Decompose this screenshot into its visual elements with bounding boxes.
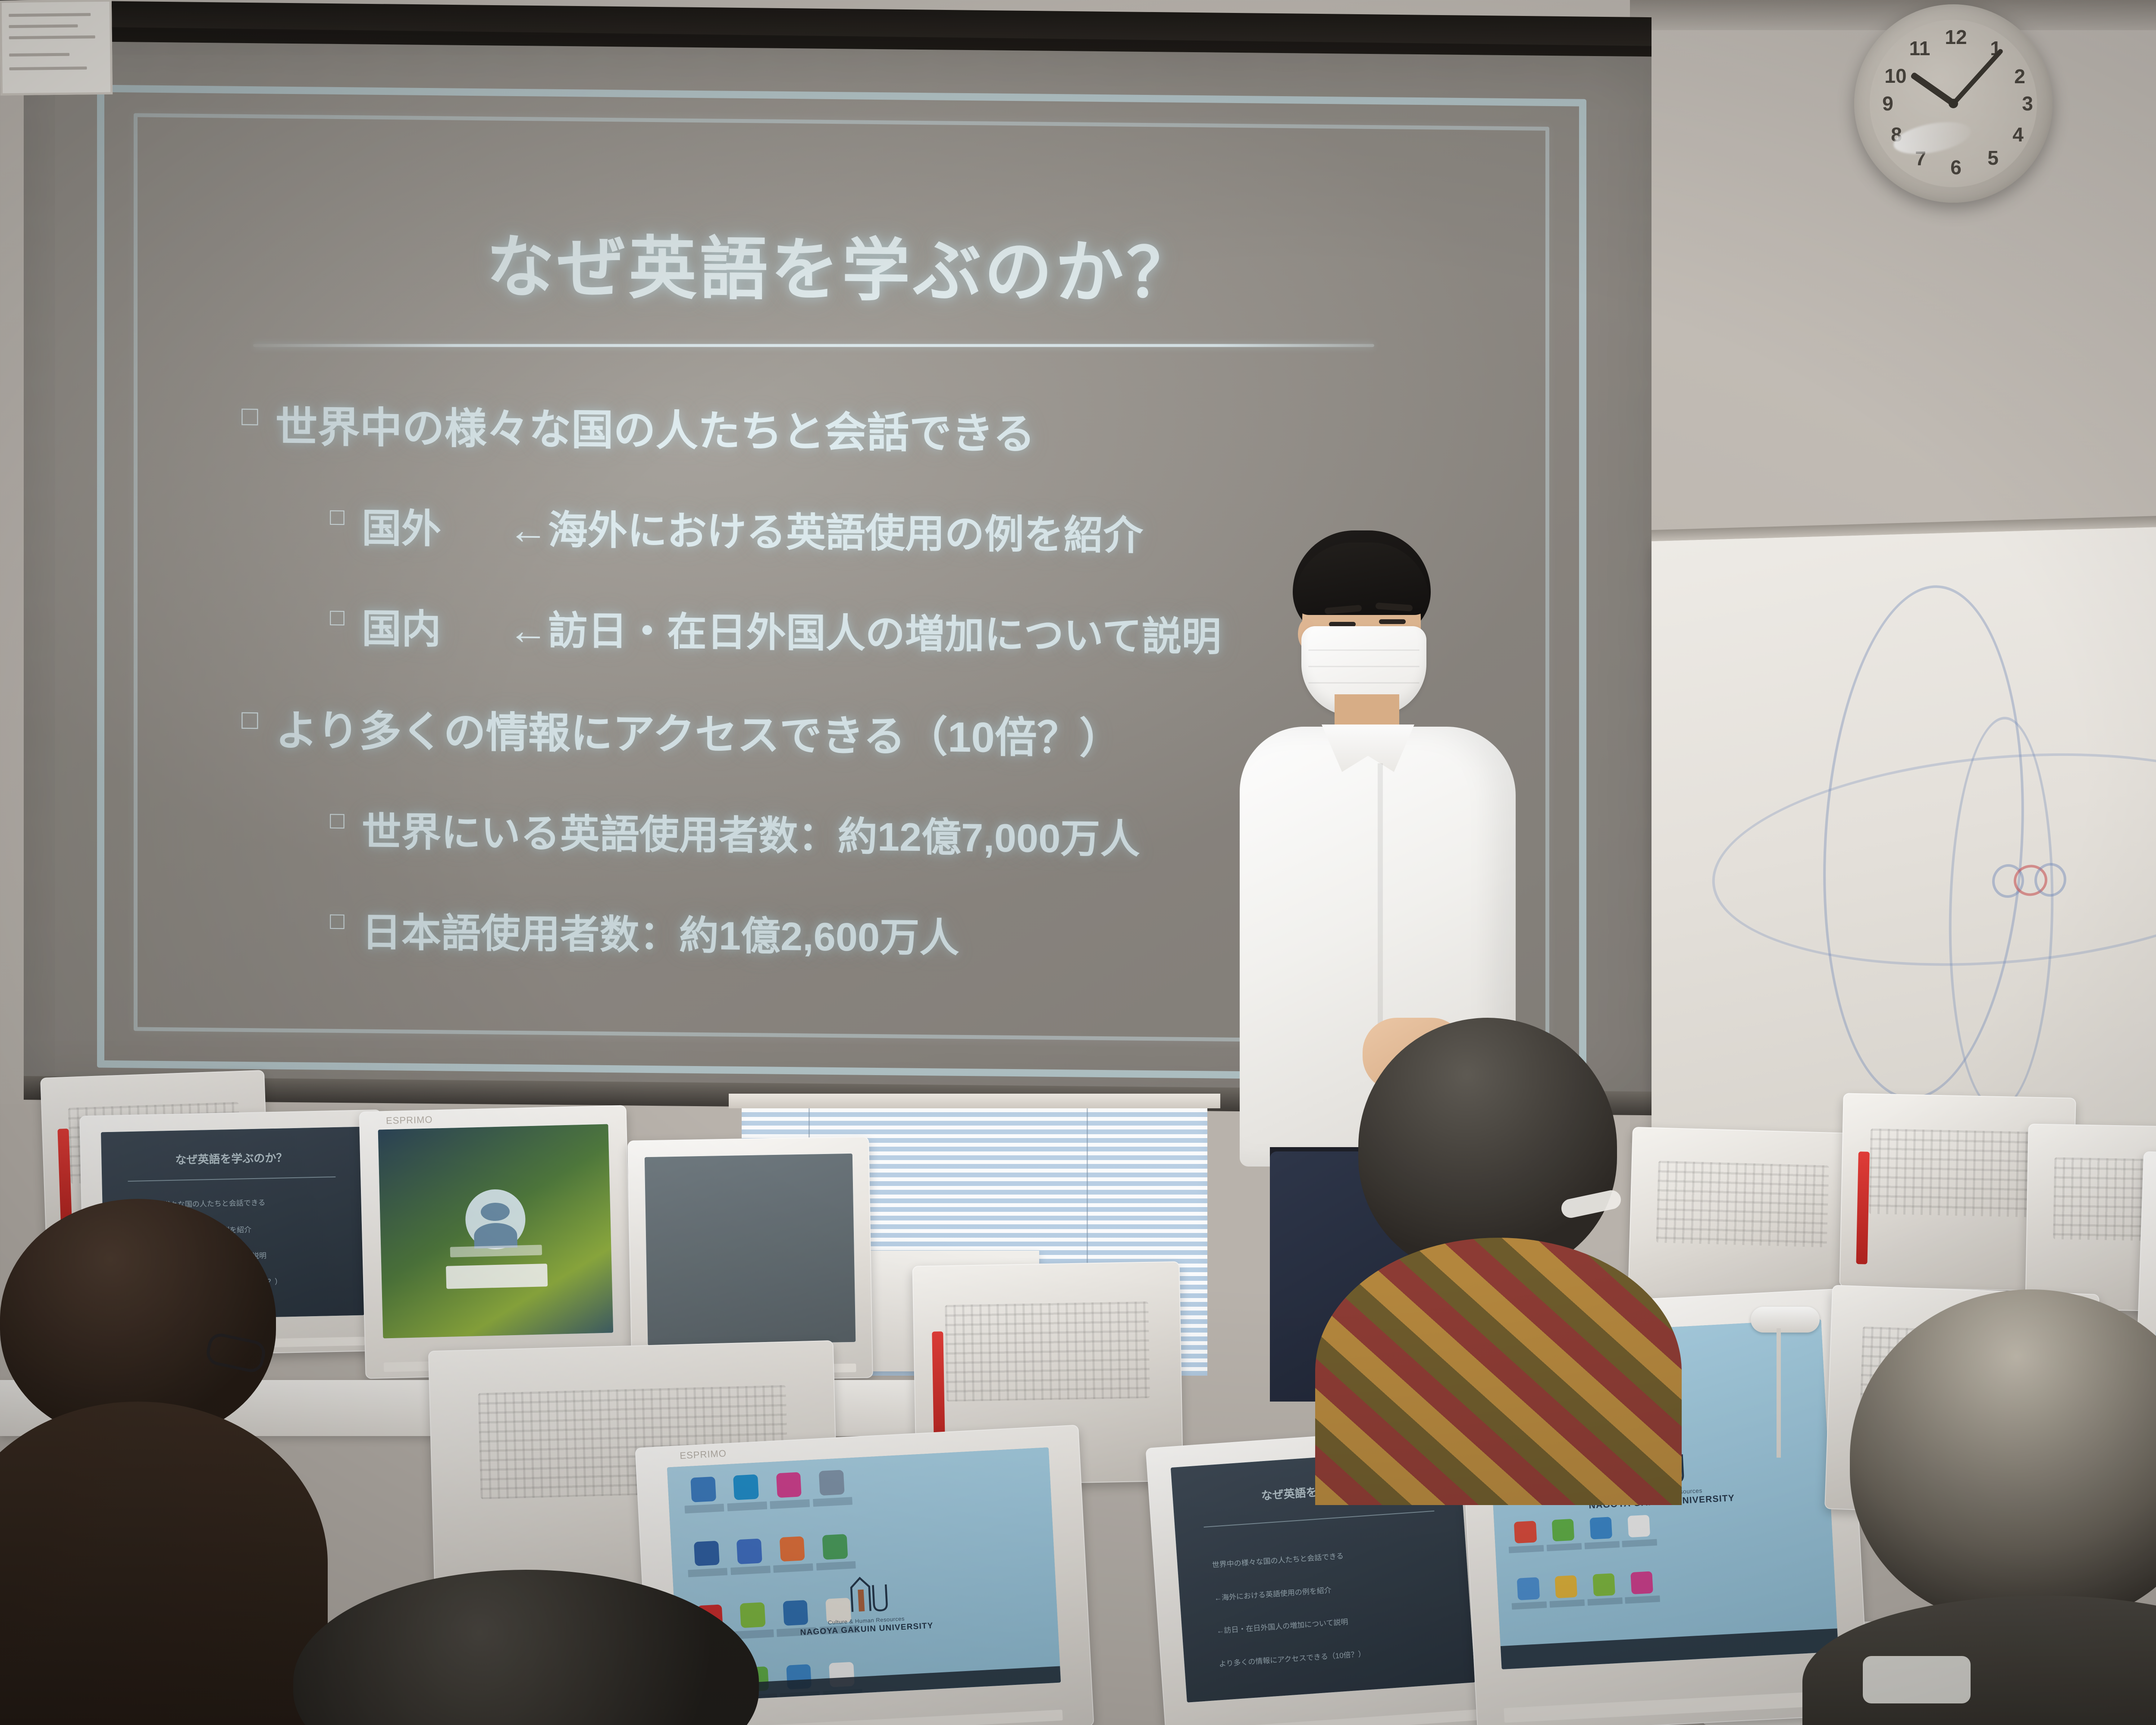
desktop-icon[interactable]: [1583, 1517, 1620, 1565]
ngu-logo: Culture & Human Resources NAGOYA GAKUIN …: [797, 1569, 934, 1637]
face-mask: [1863, 1656, 1971, 1703]
bullet-marker-icon: □: [330, 505, 345, 529]
bullet-marker-icon: □: [241, 706, 258, 733]
slide-bullet-5-text: 世界にいる英語使用者数：約12億7,000万人: [362, 800, 1140, 865]
clock-face: 12 1 2 3 4 5 6 7 8 9 10 11: [1870, 20, 2037, 187]
slide-bullet-2-keyword: 国外: [362, 496, 508, 555]
username-label: [450, 1245, 542, 1257]
desktop-icon[interactable]: [1586, 1573, 1623, 1622]
mirror-bullet: 世界中の様々な国の人たちと会話できる: [1212, 1550, 1344, 1570]
clock-numeral: 2: [2007, 65, 2033, 88]
monitor-back-panel: [2025, 1123, 2156, 1313]
clock-minute-hand: [1952, 48, 2004, 105]
desktop-icon[interactable]: [729, 1538, 771, 1593]
desktop-icon[interactable]: [1510, 1577, 1548, 1626]
bullet-marker-icon: □: [330, 909, 345, 933]
mirror-bullet: より多くの情報にアクセスできる（10倍？）: [1219, 1647, 1366, 1669]
desktop-icon[interactable]: [768, 1472, 811, 1527]
audience-plaid-shirt: [1315, 1238, 1682, 1505]
desk-lamp-head: [1751, 1307, 1820, 1333]
windows-login-screen[interactable]: [378, 1124, 613, 1338]
desktop-icon[interactable]: [1545, 1518, 1583, 1567]
ngu-crest-icon: [840, 1571, 890, 1615]
slide-bullet-3-keyword: 国内: [362, 597, 508, 655]
audience-shoulders: [0, 1402, 328, 1725]
bullet-marker-icon: □: [330, 605, 345, 629]
mirror-bullet: ←訪日・在日外国人の増加について説明: [1216, 1616, 1348, 1636]
bullet-marker-icon: □: [241, 402, 258, 430]
whiteboard: [1651, 521, 2156, 1154]
slide-title-divider: [253, 344, 1374, 347]
clock-numeral: 6: [1943, 156, 1969, 179]
slide-title: なぜ英語を学ぶのか？: [153, 208, 1531, 320]
clock-hour-hand: [1910, 72, 1955, 106]
bullet-marker-icon: □: [330, 808, 345, 832]
blind-head-rail: [729, 1094, 1220, 1108]
slide-bullet-4-text: より多くの情報にアクセスできる（10倍？）: [276, 696, 1122, 766]
desktop-icon[interactable]: [1548, 1575, 1586, 1624]
classroom-photo-scene: なぜ英語を学ぶのか？ □ 世界中の様々な国の人たちと会話できる □ 国外←海外に…: [0, 0, 2156, 1725]
slide-bullet-2-text: ←海外における英語使用の例を紹介: [508, 508, 1143, 558]
clock-numeral: 5: [1980, 147, 2006, 169]
mirror-slide-title: なぜ英語を学ぶのか？: [175, 1149, 288, 1167]
desk-lamp-arm: [1777, 1328, 1781, 1458]
monitor-screen[interactable]: [645, 1154, 856, 1345]
desktop-icon[interactable]: [1507, 1521, 1545, 1569]
desktop-icon[interactable]: [1621, 1515, 1658, 1563]
clock-numeral: 10: [1883, 65, 1908, 87]
monitor-brand-label: ESPRIMO: [386, 1114, 433, 1126]
desktop-icon[interactable]: [686, 1540, 729, 1595]
clock-numeral: 3: [2015, 92, 2040, 115]
desktop-icon[interactable]: [726, 1474, 768, 1529]
slide-bullet-6-text: 日本語使用者数：約1億2,600万人: [362, 900, 959, 963]
monitor-screen[interactable]: [378, 1124, 613, 1338]
clock-numeral: 9: [1875, 92, 1901, 115]
desktop-icon[interactable]: [811, 1470, 853, 1525]
wall-notice-secondary: [0, 0, 113, 95]
presenter-eye: [1379, 619, 1406, 624]
clock-numeral: 4: [2005, 123, 2031, 146]
clock-numeral: 12: [1943, 26, 1969, 48]
monitor-login-screen[interactable]: ESPRIMO: [359, 1105, 633, 1379]
password-input[interactable]: [446, 1264, 548, 1289]
clock-center-pin: [1949, 99, 1958, 108]
user-avatar-icon: [465, 1189, 526, 1250]
slide-bullet-3-text: ←訪日・在日外国人の増加について説明: [508, 608, 1221, 659]
slide-bullet-1-text: 世界中の様々な国の人たちと会話できる: [276, 393, 1035, 461]
desktop-icon[interactable]: [1624, 1571, 1661, 1620]
slide-bullet-1: □ 世界中の様々な国の人たちと会話できる: [241, 392, 1518, 466]
clock-numeral: 11: [1907, 37, 1933, 60]
mirror-bullet: ←海外における英語使用の例を紹介: [1214, 1584, 1332, 1603]
wall-clock: 12 1 2 3 4 5 6 7 8 9 10 11: [1854, 4, 2053, 203]
idle-screen: [645, 1154, 856, 1345]
desktop-icon[interactable]: [683, 1476, 725, 1531]
